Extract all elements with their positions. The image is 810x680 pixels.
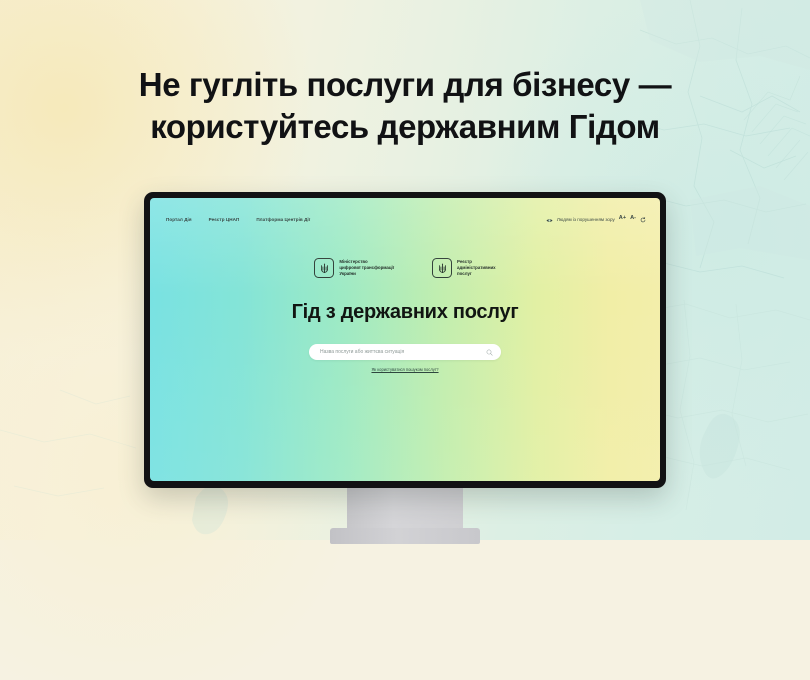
site-main-content: Міністерство цифрової трансформації Укра… (150, 258, 660, 372)
reset-icon[interactable] (640, 210, 646, 228)
ukraine-trident-emblem (314, 258, 334, 278)
ukraine-trident-emblem (432, 258, 452, 278)
search-section: Назва послуги або життєва ситуація Як ко… (309, 344, 501, 372)
site-nav-links: Портал Дія Реєстр ЦНАП Платформа Центрів… (166, 217, 310, 222)
monitor-mockup: Портал Дія Реєстр ЦНАП Платформа Центрів… (144, 192, 666, 488)
logo-registry-label: Реєстр адміністративних послуг (457, 259, 496, 278)
search-icon[interactable] (486, 343, 493, 361)
logo-registry-administrative-services[interactable]: Реєстр адміністративних послуг (432, 258, 496, 278)
logo-registry-line-1: Реєстр (457, 259, 472, 264)
nav-link-portal-diia[interactable]: Портал Дія (166, 217, 192, 222)
site-navigation-bar: Портал Дія Реєстр ЦНАП Платформа Центрів… (166, 210, 646, 228)
monitor-screen: Портал Дія Реєстр ЦНАП Платформа Центрів… (150, 198, 660, 481)
search-input[interactable]: Назва послуги або життєва ситуація (309, 344, 501, 360)
accessibility-controls: Людям із порушенням зору A+ A- (546, 210, 646, 228)
page-headline: Не гугліть послуги для бізнесу — користу… (0, 64, 810, 147)
font-size-increase-button[interactable]: A+ (619, 216, 626, 222)
logo-registry-line-3: послуг (457, 271, 472, 276)
nav-link-registry-cnap[interactable]: Реєстр ЦНАП (209, 217, 240, 222)
logo-registry-line-2: адміністративних (457, 265, 496, 270)
organisation-logos: Міністерство цифрової трансформації Укра… (314, 258, 495, 278)
accessibility-label: Людям із порушенням зору (557, 217, 615, 222)
logo-ministry-line-3: України (339, 271, 355, 276)
logo-ministry-digital-transformation[interactable]: Міністерство цифрової трансформації Укра… (314, 258, 394, 278)
headline-line-2: користуйтесь державним Гідом (40, 106, 770, 148)
search-placeholder-text: Назва послуги або життєва ситуація (320, 349, 486, 355)
logo-ministry-line-2: цифрової трансформації (339, 265, 394, 270)
logo-ministry-line-1: Міністерство (339, 259, 367, 264)
logo-ministry-label: Міністерство цифрової трансформації Укра… (339, 259, 394, 278)
monitor-stand-neck (347, 488, 463, 532)
search-help-link[interactable]: Як користуватися пошуком послуг? (371, 367, 438, 372)
eye-icon[interactable] (546, 210, 553, 228)
monitor-stand-base (330, 528, 480, 544)
monitor-bezel: Портал Дія Реєстр ЦНАП Платформа Центрів… (144, 192, 666, 488)
font-size-decrease-button[interactable]: A- (630, 216, 636, 222)
nav-link-platform-diia-centers[interactable]: Платформа Центрів Дії (256, 217, 310, 222)
page-title: Гід з державних послуг (292, 301, 519, 324)
headline-line-1: Не гугліть послуги для бізнесу — (40, 64, 770, 106)
